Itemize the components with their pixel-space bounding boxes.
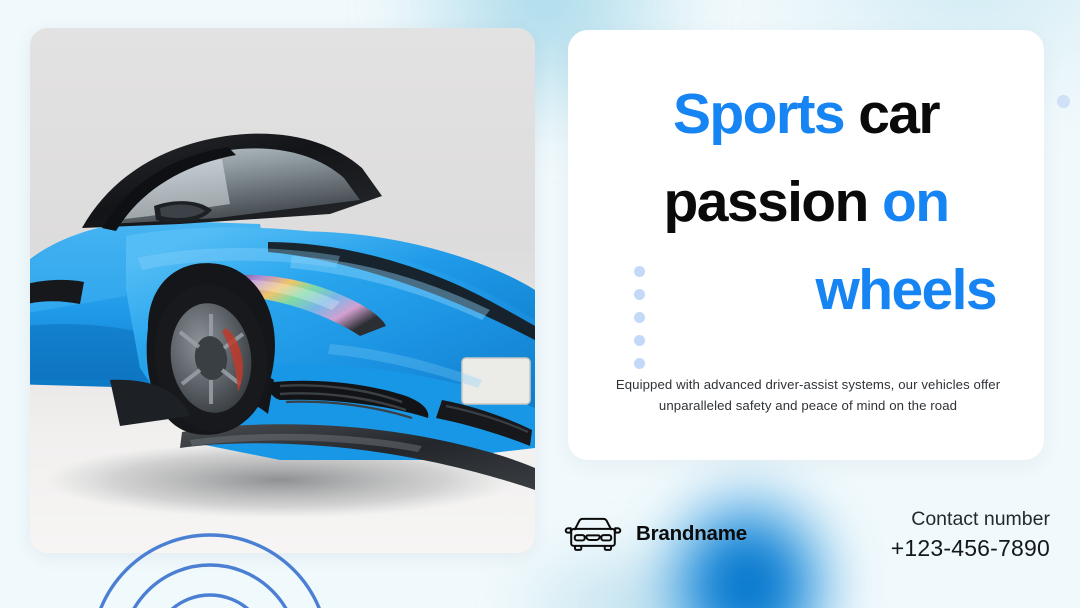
brand-logo: Brandname (562, 516, 747, 552)
decor-dot-4 (634, 335, 645, 346)
decor-dot-2 (634, 289, 645, 300)
contact-block: Contact number +123-456-7890 (891, 505, 1050, 564)
body-paragraph: Equipped with advanced driver-assist sys… (612, 374, 1004, 416)
decor-dot-3 (634, 312, 645, 323)
car-illustration (30, 28, 535, 553)
headline-word-wheels: wheels (816, 258, 997, 322)
car-photo (30, 28, 535, 553)
brand-name: Brandname (636, 522, 747, 546)
headline-card: Sports car passion on wheels Equipped wi… (568, 30, 1044, 460)
decor-dot-5 (634, 358, 645, 369)
decorative-dot-column (634, 266, 645, 369)
headline-word-car: car (858, 82, 939, 146)
car-front-icon (562, 516, 624, 552)
headline-line-2: passion on (588, 158, 1024, 246)
car-photo-card (30, 28, 535, 553)
headline-word-passion: passion (664, 170, 868, 234)
headline-word-sports: Sports (673, 82, 844, 146)
headline-line-1: Sports car (588, 70, 1024, 158)
poster-canvas: Sports car passion on wheels Equipped wi… (0, 0, 1080, 608)
contact-number[interactable]: +123-456-7890 (891, 533, 1050, 564)
decor-edge-dot (1057, 95, 1070, 108)
contact-label: Contact number (891, 505, 1050, 533)
page-title: Sports car passion on wheels (588, 70, 1024, 334)
headline-word-on: on (882, 170, 948, 234)
headline-line-3: wheels (588, 246, 1024, 334)
decor-dot-1 (634, 266, 645, 277)
